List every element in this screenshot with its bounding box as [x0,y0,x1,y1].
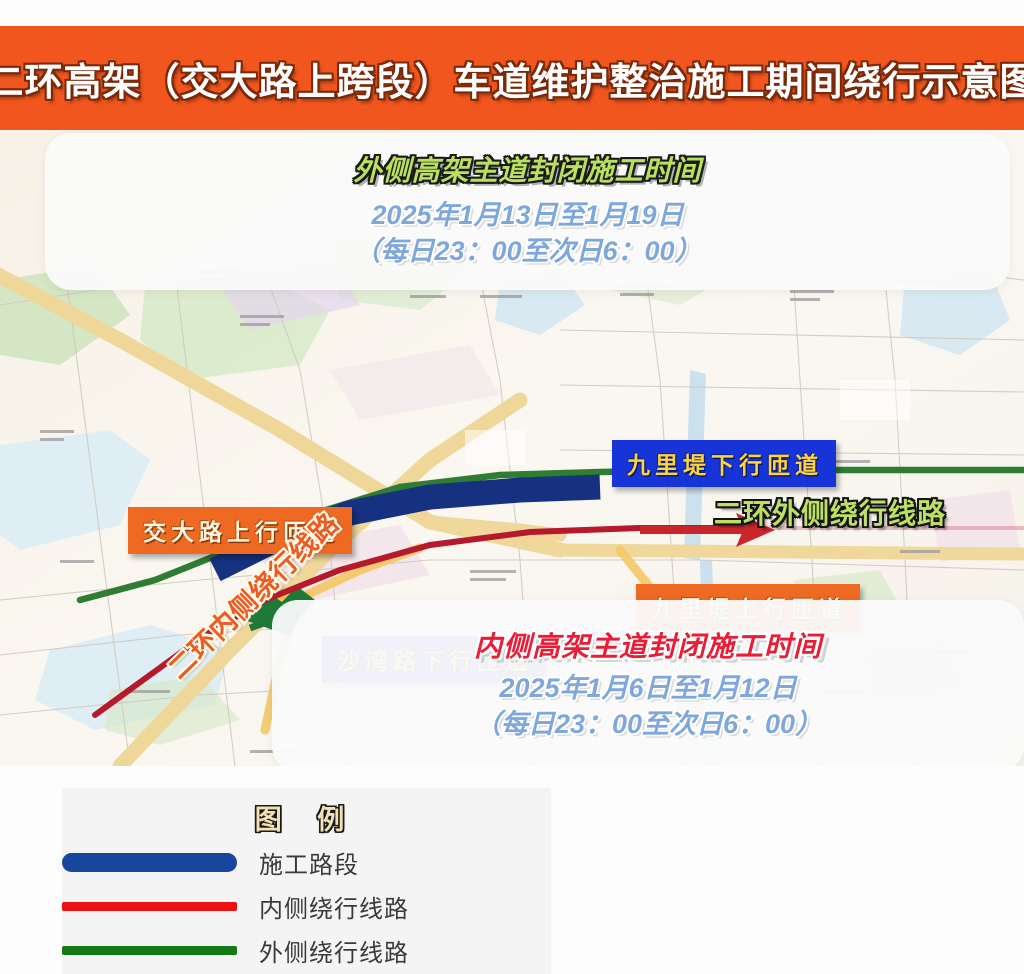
legend-label-inner-detour: 内侧绕行线路 [259,889,409,924]
outer-closure-daily-window: （每日23：00至次日6：00） [353,234,701,269]
callout-jiulidi-down-ramp[interactable]: 九里堤下行匝道 [612,440,836,487]
legend-item-inner-detour: 内侧绕行线路 [62,884,551,928]
legend-item-outer-detour: 外侧绕行线路 [62,928,551,972]
legend-swatch-outer-detour [62,946,237,955]
outer-closure-heading: 外侧高架主道封闭施工时间 [353,154,701,187]
page-title: 二环高架（交大路上跨段）车道维护整治施工期间绕行示意图 [0,26,1024,130]
legend-label-outer-detour: 外侧绕行线路 [259,933,409,968]
legend-label-construction: 施工路段 [259,845,359,880]
legend-swatch-construction [62,853,237,872]
legend-item-construction: 施工路段 [62,840,551,884]
legend-box: 图 例 施工路段 内侧绕行线路 外侧绕行线路 [62,788,551,974]
label-outer-detour-route: 二环外侧绕行线路 [714,492,946,532]
map-area[interactable]: 交大路上行匝道 九里堤下行匝道 九里堤上行匝道 沙湾路下行匝道 二环外侧绕行线路… [0,130,1024,766]
title-banner: 二环高架（交大路上跨段）车道维护整治施工期间绕行示意图 [0,26,1024,130]
inner-closure-daily-window: （每日23：00至次日6：00） [474,707,822,742]
inner-closure-info-panel: 内侧高架主道封闭施工时间 2025年1月6日至1月12日 （每日23：00至次日… [272,600,1024,766]
legend-rows: 施工路段 内侧绕行线路 外侧绕行线路 [62,840,551,972]
outer-closure-info-panel: 外侧高架主道封闭施工时间 2025年1月13日至1月19日 （每日23：00至次… [45,133,1010,290]
outer-closure-date-range: 2025年1月13日至1月19日 [371,198,683,233]
infographic-page: 二环高架（交大路上跨段）车道维护整治施工期间绕行示意图 [0,0,1024,974]
legend-title: 图 例 [62,798,551,837]
inner-closure-heading: 内侧高架主道封闭施工时间 [474,630,822,663]
legend-swatch-inner-detour [62,902,237,911]
inner-closure-date-range: 2025年1月6日至1月12日 [499,671,796,706]
